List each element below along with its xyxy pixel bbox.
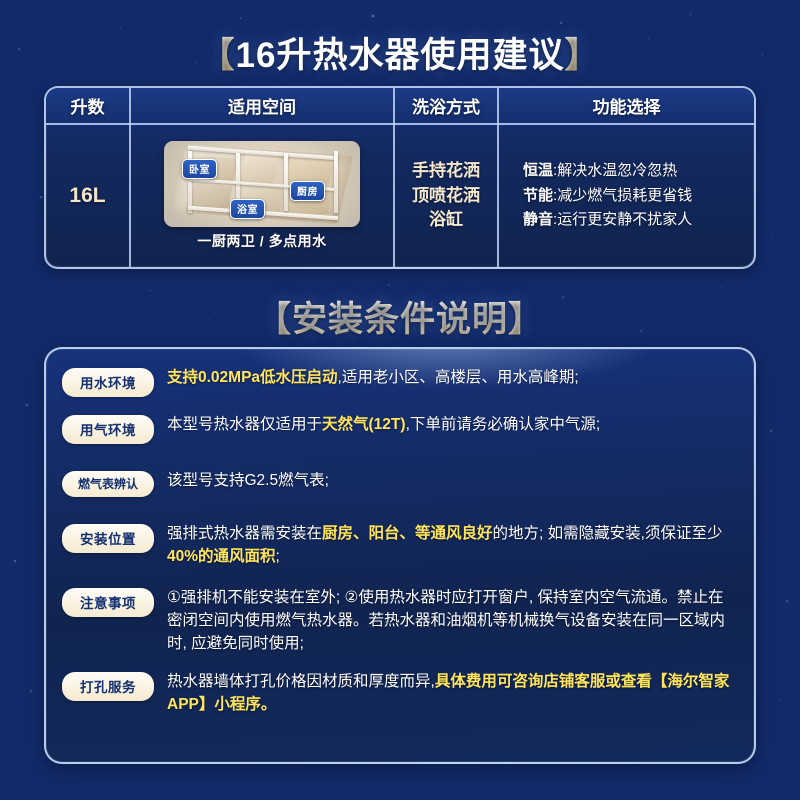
function-item: 恒温:解决水温忽冷忽热	[523, 159, 752, 184]
function-item-key: 恒温	[523, 162, 553, 179]
install-text-normal: 本型号热水器仅适用于	[167, 416, 322, 433]
column-header-bath: 洗浴方式	[394, 88, 498, 124]
install-row: 用气环境本型号热水器仅适用于天然气(12T),下单前请务必确认家中气源;	[62, 414, 732, 444]
function-item-key: 静音	[523, 211, 553, 228]
cell-bath-modes: 手持花洒顶喷花洒浴缸	[394, 124, 498, 267]
spec-table-panel: 升数 适用空间 洗浴方式 功能选择 16L	[44, 86, 756, 269]
install-row: 打孔服务热水器墙体打孔价格因材质和厚度而异,具体费用可咨询店铺客服或查看【海尔智…	[62, 671, 732, 717]
page-title-middle: 【安装条件说明】	[0, 291, 800, 342]
install-row: 用水环境支持0.02MPa低水压启动,适用老小区、高楼层、用水高峰期;	[62, 367, 732, 397]
install-row-label: 注意事项	[62, 588, 154, 617]
page-root: 【16升热水器使用建议】 升数 适用空间 洗浴方式 功能选择 16L	[0, 0, 800, 800]
install-conditions-panel: 用水环境支持0.02MPa低水压启动,适用老小区、高楼层、用水高峰期;用气环境本…	[44, 347, 756, 764]
function-item: 静音:运行更安静不扰家人	[523, 208, 752, 233]
install-row: 燃气表辨认该型号支持G2.5燃气表;	[62, 470, 732, 497]
install-row-label: 燃气表辨认	[62, 471, 154, 497]
floorplan-wall	[334, 151, 338, 213]
install-row-text: ①强排机不能安装在室外; ②使用热水器时应打开窗户, 保持室内空气流通。禁止在密…	[167, 587, 732, 656]
install-row: 安装位置强排式热水器需安装在厨房、阳台、等通风良好的地方; 如需隐藏安装,须保证…	[62, 523, 732, 569]
floorplan-caption: 一厨两卫 / 多点用水	[197, 231, 326, 251]
install-row-text: 支持0.02MPa低水压启动,适用老小区、高楼层、用水高峰期;	[167, 367, 732, 390]
install-text-normal: ;	[276, 548, 280, 565]
install-text-highlight: 支持0.02MPa低水压启动	[167, 369, 338, 386]
install-row-label: 打孔服务	[62, 672, 154, 701]
page-title-top: 【16升热水器使用建议】	[0, 27, 800, 78]
spec-table-header-row: 升数 适用空间 洗浴方式 功能选择	[46, 88, 754, 124]
floorplan-tag-bedroom: 卧室	[182, 159, 217, 179]
floorplan-block: 卧室 厨房 浴室 一厨两卫 / 多点用水	[133, 141, 391, 251]
install-row-label: 用水环境	[62, 368, 154, 397]
floorplan-wall	[284, 153, 288, 211]
function-item-value: 减少燃气损耗更省钱	[557, 187, 692, 204]
bath-mode-item: 浴缸	[397, 208, 495, 233]
install-row-text: 该型号支持G2.5燃气表;	[167, 470, 732, 493]
table-row: 16L	[46, 124, 754, 267]
install-text-highlight: 40%的通风面积	[167, 548, 276, 565]
liters-value: 16L	[69, 184, 105, 207]
column-header-function: 功能选择	[498, 88, 754, 124]
cell-liters: 16L	[46, 124, 130, 267]
column-header-space: 适用空间	[130, 88, 394, 124]
install-text-highlight: 厨房、阳台、等通风良好	[322, 525, 493, 542]
column-header-liters: 升数	[46, 88, 130, 124]
function-item: 节能:减少燃气损耗更省钱	[523, 184, 752, 209]
install-text-normal: ,适用老小区、高楼层、用水高峰期;	[338, 369, 579, 386]
spec-table: 升数 适用空间 洗浴方式 功能选择 16L	[46, 88, 754, 267]
bracket-close-icon: 】	[564, 36, 600, 75]
install-text-normal: 该型号支持G2.5燃气表;	[167, 472, 329, 489]
install-text-normal: ①强排机不能安装在室外; ②使用热水器时应打开窗户, 保持室内空气流通。禁止在密…	[167, 589, 725, 652]
function-item-value: 解决水温忽冷忽热	[557, 162, 677, 179]
floorplan-image: 卧室 厨房 浴室	[164, 141, 360, 227]
install-row-label: 安装位置	[62, 524, 154, 553]
floorplan-tag-kitchen: 厨房	[290, 181, 325, 201]
install-text-normal: ,下单前请务必确认家中气源;	[406, 416, 601, 433]
install-text-normal: 的地方; 如需隐藏安装,须保证至少	[493, 525, 723, 542]
bracket-close-icon: 】	[508, 300, 544, 339]
bracket-open-icon: 【	[256, 300, 292, 339]
spec-table-head: 升数 适用空间 洗浴方式 功能选择	[46, 88, 754, 124]
install-row-label: 用气环境	[62, 415, 154, 444]
page-title-middle-text: 安装条件说明	[292, 300, 508, 339]
install-row: 注意事项①强排机不能安装在室外; ②使用热水器时应打开窗户, 保持室内空气流通。…	[62, 587, 732, 656]
bath-mode-item: 手持花洒	[397, 159, 495, 184]
bath-mode-item: 顶喷花洒	[397, 184, 495, 209]
spec-table-body: 16L	[46, 124, 754, 267]
cell-functions: 恒温:解决水温忽冷忽热节能:减少燃气损耗更省钱静音:运行更安静不扰家人	[498, 124, 754, 267]
floorplan-tag-bathroom: 浴室	[230, 199, 265, 219]
function-list: 恒温:解决水温忽冷忽热节能:减少燃气损耗更省钱静音:运行更安静不扰家人	[501, 159, 752, 233]
page-title-top-text: 16升热水器使用建议	[236, 36, 565, 75]
install-row-text: 强排式热水器需安装在厨房、阳台、等通风良好的地方; 如需隐藏安装,须保证至少40…	[167, 523, 732, 569]
cell-space: 卧室 厨房 浴室 一厨两卫 / 多点用水	[130, 124, 394, 267]
function-item-key: 节能	[523, 187, 553, 204]
install-row-text: 热水器墙体打孔价格因材质和厚度而异,具体费用可咨询店铺客服或查看【海尔智家APP…	[167, 671, 732, 717]
install-text-highlight: 天然气(12T)	[322, 416, 406, 433]
install-text-normal: 热水器墙体打孔价格因材质和厚度而异,	[167, 673, 435, 690]
bath-mode-list: 手持花洒顶喷花洒浴缸	[397, 159, 495, 233]
bracket-open-icon: 【	[200, 36, 236, 75]
function-item-value: 运行更安静不扰家人	[557, 211, 692, 228]
install-text-normal: 强排式热水器需安装在	[167, 525, 322, 542]
install-row-text: 本型号热水器仅适用于天然气(12T),下单前请务必确认家中气源;	[167, 414, 732, 437]
